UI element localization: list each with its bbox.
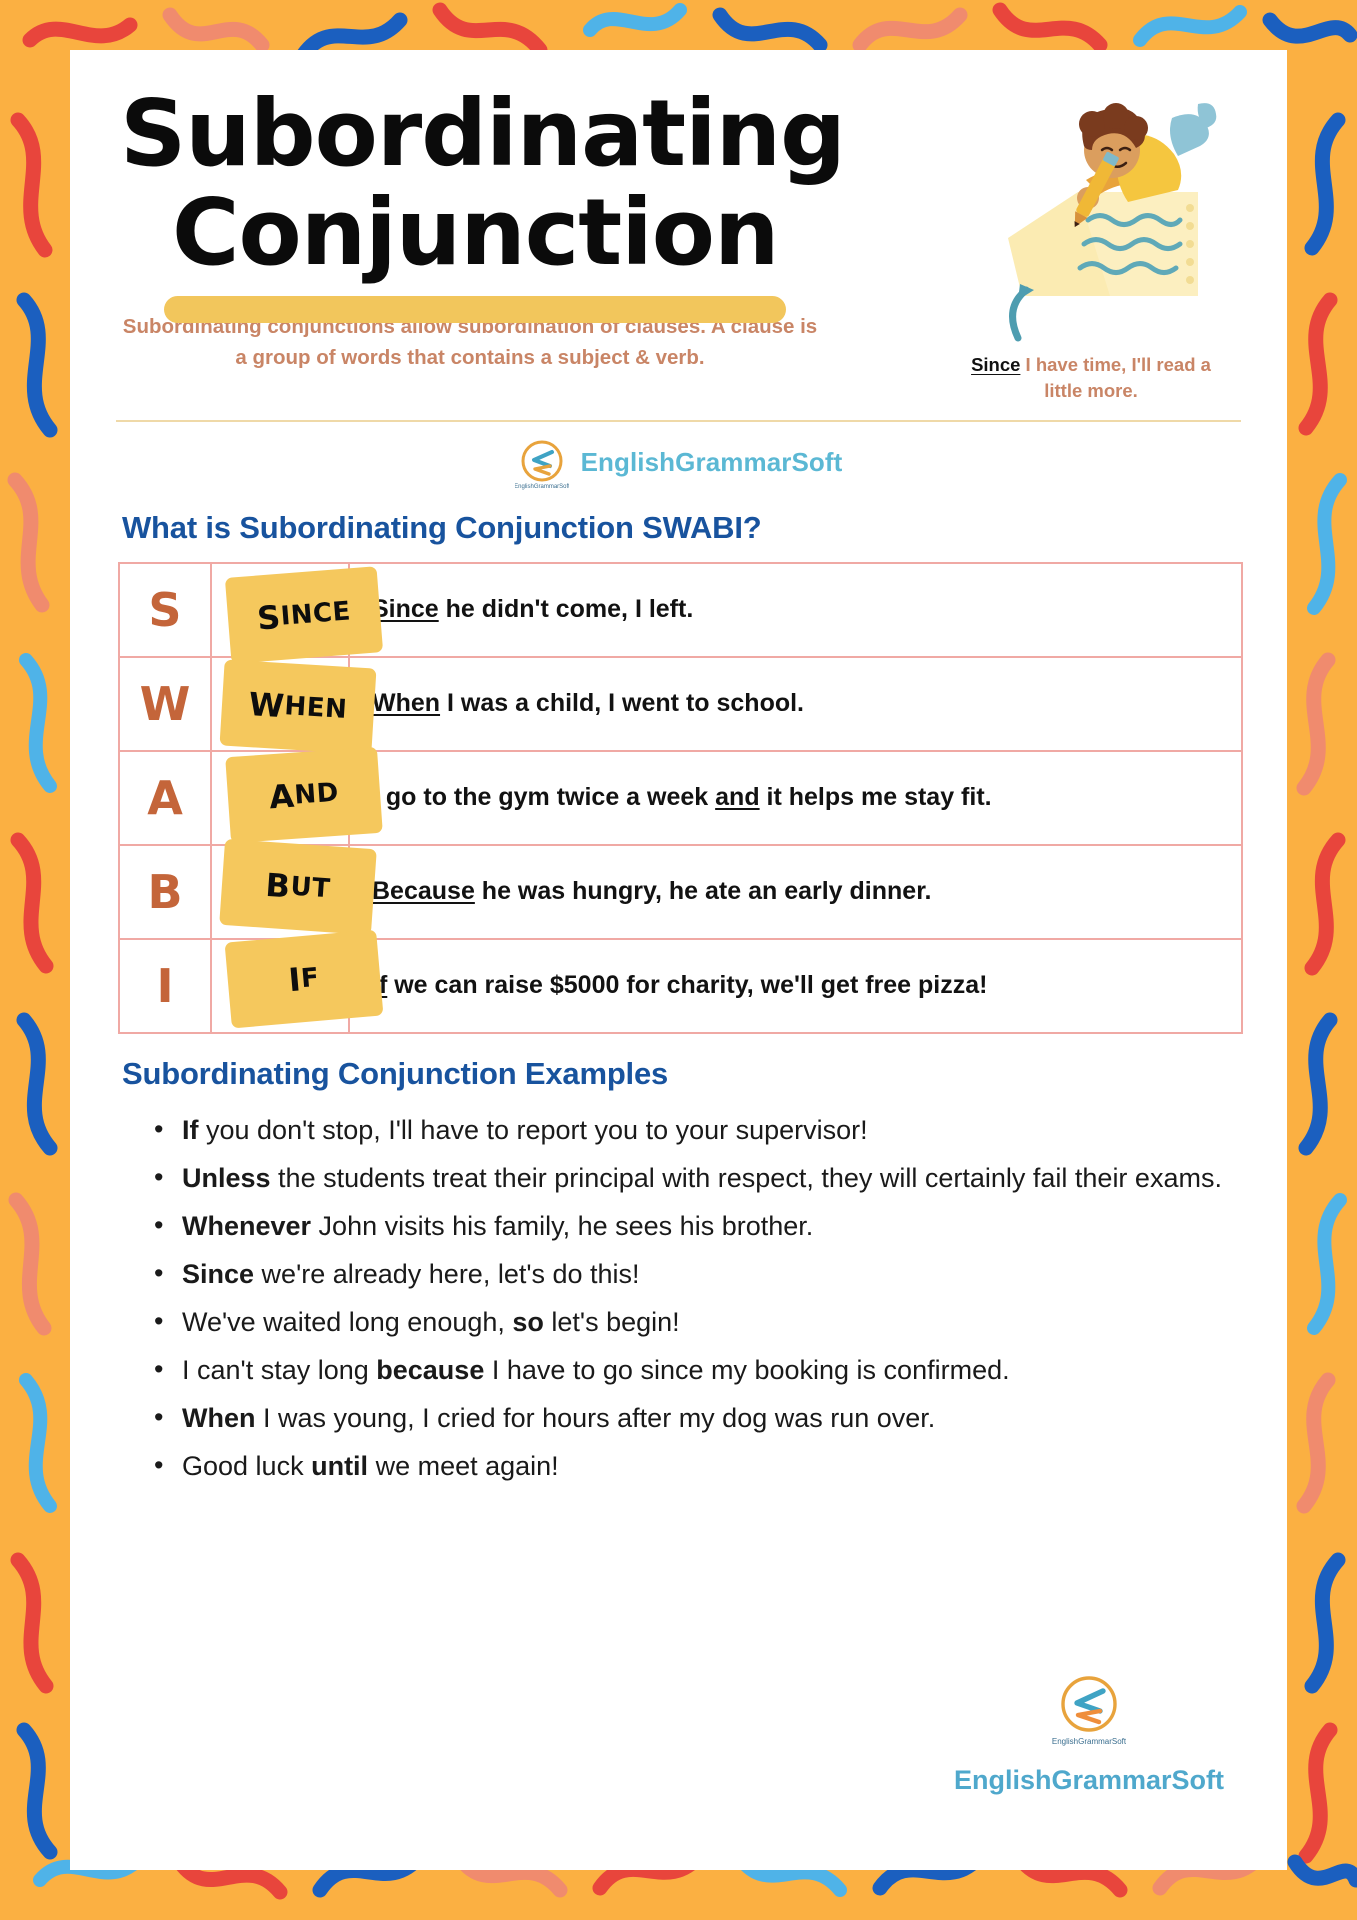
table-row: A I go to the gym twice a week and it he…	[120, 752, 1241, 846]
swabi-letter: A	[120, 752, 212, 844]
swabi-sentence-rest: I was a child, I went to school.	[440, 689, 804, 717]
table-row: W When I was a child, I went to school.	[120, 658, 1241, 752]
example-keyword: Since	[182, 1259, 254, 1289]
swabi-keyword: If	[372, 971, 387, 999]
illustration-caption-rest: I have time, I'll read a little more.	[1020, 354, 1211, 401]
swabi-sentence-rest: he didn't come, I left.	[439, 595, 694, 623]
swabi-sentence-rest: it helps me stay fit.	[760, 783, 992, 811]
list-item: Since we're already here, let's do this!	[152, 1252, 1241, 1296]
table-row: S Since he didn't come, I left.	[120, 564, 1241, 658]
example-text-pre: Good luck	[182, 1451, 311, 1481]
poster-header: Subordinating Conjunction Subordinating …	[116, 84, 1241, 404]
list-item: If you don't stop, I'll have to report y…	[152, 1108, 1241, 1152]
list-item: We've waited long enough, so let's begin…	[152, 1300, 1241, 1344]
example-text: we're already here, let's do this!	[254, 1259, 640, 1289]
illustration-caption: Since I have time, I'll read a little mo…	[960, 352, 1222, 404]
example-keyword: because	[376, 1355, 484, 1385]
swabi-sentence-pre: I go to the gym twice a week	[372, 783, 715, 811]
swabi-keyword: Since	[372, 595, 439, 623]
englishgrammarsoft-logo-icon: EnglishGrammarSoft	[515, 436, 569, 490]
example-text: the students treat their principal with …	[271, 1163, 1222, 1193]
example-keyword: Whenever	[182, 1211, 311, 1241]
title-highlight-bar	[164, 296, 786, 323]
swabi-keyword: When	[372, 689, 440, 717]
example-keyword: When	[182, 1403, 256, 1433]
list-item: When I was young, I cried for hours afte…	[152, 1396, 1241, 1440]
swabi-sentence-rest: he was hungry, he ate an early dinner.	[475, 877, 932, 905]
swabi-keyword: and	[715, 783, 759, 811]
swabi-sentence: I go to the gym twice a week and it help…	[350, 752, 1241, 844]
example-text-pre: I can't stay long	[182, 1355, 376, 1385]
englishgrammarsoft-logo-icon-footer: EnglishGrammarSoft	[1052, 1670, 1126, 1754]
swabi-badge-cell	[212, 940, 350, 1032]
header-illustration-block: Since I have time, I'll read a little mo…	[941, 84, 1241, 404]
page-title-line-2: Conjunction	[172, 183, 876, 282]
example-keyword: so	[512, 1307, 544, 1337]
footer-brand: EnglishGrammarSoft EnglishGrammarSoft	[939, 1670, 1239, 1796]
swabi-letter: W	[120, 658, 212, 750]
swabi-badge-cell	[212, 846, 350, 938]
table-row: I If we can raise $5000 for charity, we'…	[120, 940, 1241, 1034]
examples-list: If you don't stop, I'll have to report y…	[116, 1108, 1241, 1488]
swabi-keyword: Because	[372, 877, 475, 905]
brand-name-top: EnglishGrammarSoft	[581, 447, 843, 478]
swabi-sentence: Since he didn't come, I left.	[350, 564, 1241, 656]
example-text: John visits his family, he sees his brot…	[311, 1211, 813, 1241]
swabi-sentence: When I was a child, I went to school.	[350, 658, 1241, 750]
swabi-badge-cell	[212, 658, 350, 750]
swabi-badge-cell	[212, 752, 350, 844]
swabi-sentence: If we can raise $5000 for charity, we'll…	[350, 940, 1241, 1032]
swabi-letter: B	[120, 846, 212, 938]
example-text: we meet again!	[368, 1451, 559, 1481]
example-keyword: Unless	[182, 1163, 271, 1193]
example-text: you don't stop, I'll have to report you …	[199, 1115, 868, 1145]
list-item: I can't stay long because I have to go s…	[152, 1348, 1241, 1392]
logo-caption-top: EnglishGrammarSoft	[515, 484, 569, 490]
swabi-letter: S	[120, 564, 212, 656]
logo-caption-footer: EnglishGrammarSoft	[1052, 1737, 1126, 1746]
examples-section-heading: Subordinating Conjunction Examples	[122, 1056, 1241, 1092]
list-item: Whenever John visits his family, he sees…	[152, 1204, 1241, 1248]
example-text-pre: We've waited long enough,	[182, 1307, 512, 1337]
swabi-letter: I	[120, 940, 212, 1032]
list-item: Unless the students treat their principa…	[152, 1156, 1241, 1200]
poster-card: Subordinating Conjunction Subordinating …	[70, 50, 1287, 1870]
table-row: B Because he was hungry, he ate an early…	[120, 846, 1241, 940]
illustration-caption-keyword: Since	[971, 354, 1020, 375]
example-keyword: If	[182, 1115, 199, 1145]
example-text: I was young, I cried for hours after my …	[256, 1403, 936, 1433]
brand-bar: EnglishGrammarSoft EnglishGrammarSoft	[116, 422, 1241, 500]
page-title-line-1: Subordinating	[120, 84, 876, 183]
swabi-sentence: Because he was hungry, he ate an early d…	[350, 846, 1241, 938]
swabi-badge-cell	[212, 564, 350, 656]
example-keyword: until	[311, 1451, 368, 1481]
footer-brand-name: EnglishGrammarSoft	[939, 1765, 1239, 1796]
example-text: let's begin!	[544, 1307, 680, 1337]
header-title-block: Subordinating Conjunction Subordinating …	[116, 84, 876, 374]
list-item: Good luck until we meet again!	[152, 1444, 1241, 1488]
swabi-sentence-rest: we can raise $5000 for charity, we'll ge…	[387, 971, 987, 999]
swabi-table: S Since he didn't come, I left. W When I…	[118, 562, 1243, 1034]
example-text: I have to go since my booking is confirm…	[484, 1355, 1009, 1385]
child-writing-illustration	[960, 88, 1222, 350]
swabi-section-heading: What is Subordinating Conjunction SWABI?	[122, 510, 1241, 546]
